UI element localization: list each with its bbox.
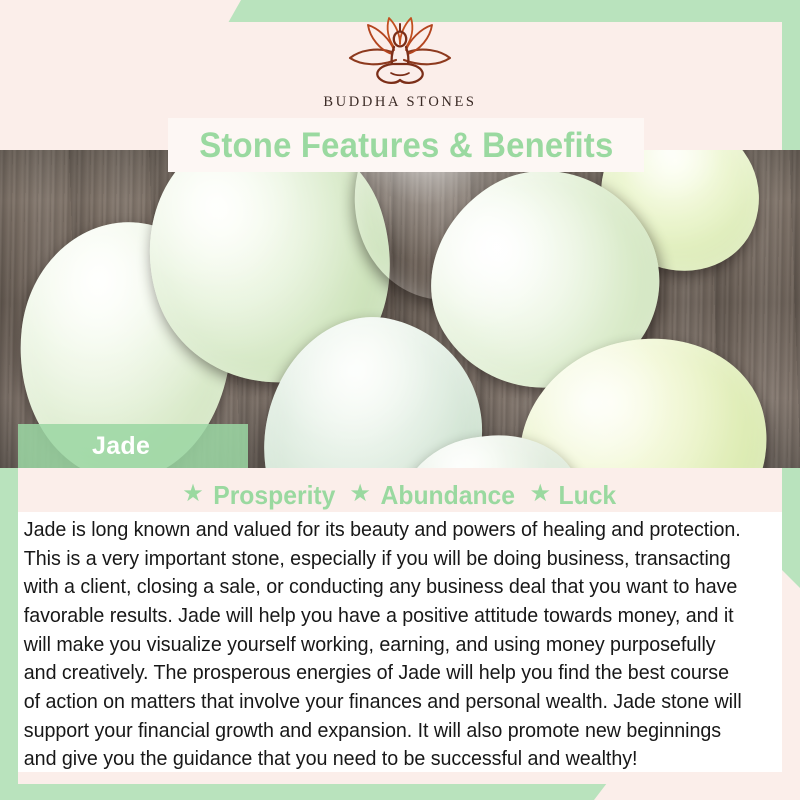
keyword-label: Prosperity xyxy=(213,482,335,508)
page-title: Stone Features & Benefits xyxy=(199,128,613,163)
stone-benefits-infographic: BUDDHA STONES Stone Features & Benefits … xyxy=(0,0,800,800)
keyword-row: ★ Prosperity ★ Abundance ★ Luck xyxy=(0,478,800,512)
keyword-item: ★ Luck xyxy=(530,482,618,508)
description-panel: Jade is long known and valued for its be… xyxy=(18,512,782,772)
description-text: Jade is long known and valued for its be… xyxy=(18,512,755,774)
keyword-item: ★ Abundance xyxy=(349,482,518,508)
title-banner: Stone Features & Benefits xyxy=(168,118,644,172)
star-icon: ★ xyxy=(349,482,371,506)
keyword-item: ★ Prosperity xyxy=(182,482,338,508)
stone-name-band: Jade xyxy=(18,424,248,468)
keyword-label: Abundance xyxy=(380,482,514,508)
brand-wordmark: BUDDHA STONES xyxy=(323,94,476,111)
star-icon: ★ xyxy=(182,482,204,506)
keyword-label: Luck xyxy=(559,482,617,508)
stone-name-label: Jade xyxy=(18,432,150,461)
brand-header: BUDDHA STONES xyxy=(0,0,800,128)
hero-image xyxy=(0,150,800,468)
star-icon: ★ xyxy=(530,482,552,506)
lotus-meditation-figure-icon xyxy=(334,14,466,88)
